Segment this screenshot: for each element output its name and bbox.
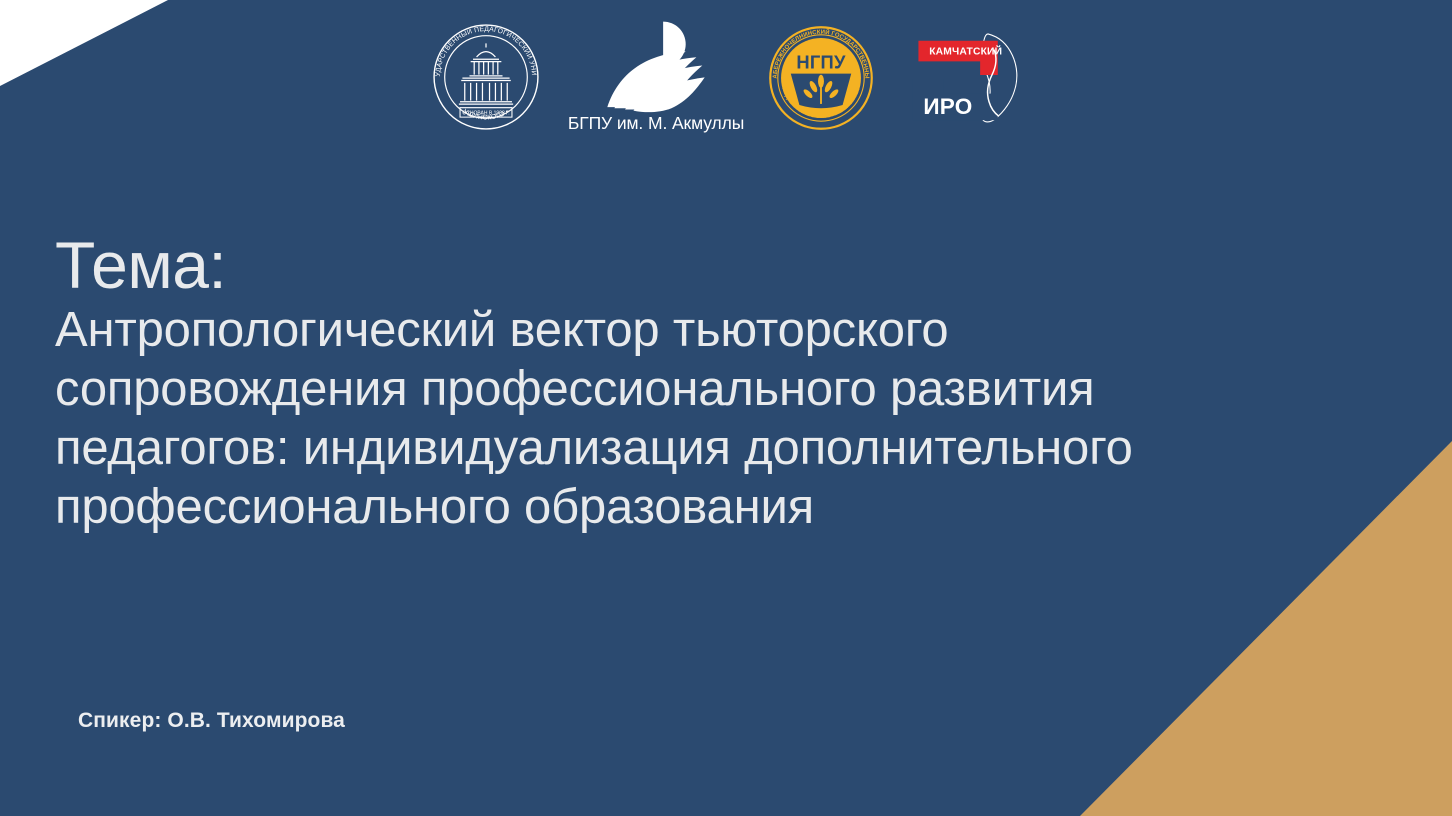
logo-yagpu: ЯРОСЛАВСКИЙ ГОСУДАРСТВЕННЫЙ ПЕДАГОГИЧЕСК…	[427, 18, 545, 136]
presentation-slide: ЯРОСЛАВСКИЙ ГОСУДАРСТВЕННЫЙ ПЕДАГОГИЧЕСК…	[0, 0, 1452, 816]
bgpu-flame-icon	[595, 18, 717, 113]
page-title: Антропологический вектор тьюторского соп…	[55, 301, 1190, 536]
svg-text:НГПУ: НГПУ	[796, 51, 846, 72]
svg-text:ИРО: ИРО	[923, 94, 972, 119]
yagpu-seal-icon: ЯРОСЛАВСКИЙ ГОСУДАРСТВЕННЫЙ ПЕДАГОГИЧЕСК…	[427, 18, 545, 136]
svg-text:ОСНОВАН В 1908 Г.: ОСНОВАН В 1908 Г.	[462, 110, 509, 116]
title-lead: Тема:	[55, 232, 1190, 299]
speaker-label: Спикер: О.В. Тихомирова	[78, 709, 345, 733]
partner-logo-strip: ЯРОСЛАВСКИЙ ГОСУДАРСТВЕННЫЙ ПЕДАГОГИЧЕСК…	[0, 18, 1452, 148]
kamchatsky-iro-icon: КАМЧАТСКИЙ ИРО	[901, 30, 1025, 126]
logo-ngpu: НАБЕРЕЖНОЧЕЛНИНСКИЙ ГОСУДАРСТВЕННЫЙ ПЕДА…	[767, 18, 875, 132]
ngpu-seal-icon: НАБЕРЕЖНОЧЕЛНИНСКИЙ ГОСУДАРСТВЕННЫЙ ПЕДА…	[767, 24, 875, 132]
logo-bgpu: БГПУ им. М. Акмуллы	[571, 18, 741, 132]
bgpu-caption: БГПУ им. М. Акмуллы	[568, 114, 744, 132]
title-block: Тема: Антропологический вектор тьюторско…	[55, 232, 1190, 537]
svg-text:КАМЧАТСКИЙ: КАМЧАТСКИЙ	[929, 44, 1002, 57]
logo-kamchatsky-iro: КАМЧАТСКИЙ ИРО	[901, 18, 1025, 126]
